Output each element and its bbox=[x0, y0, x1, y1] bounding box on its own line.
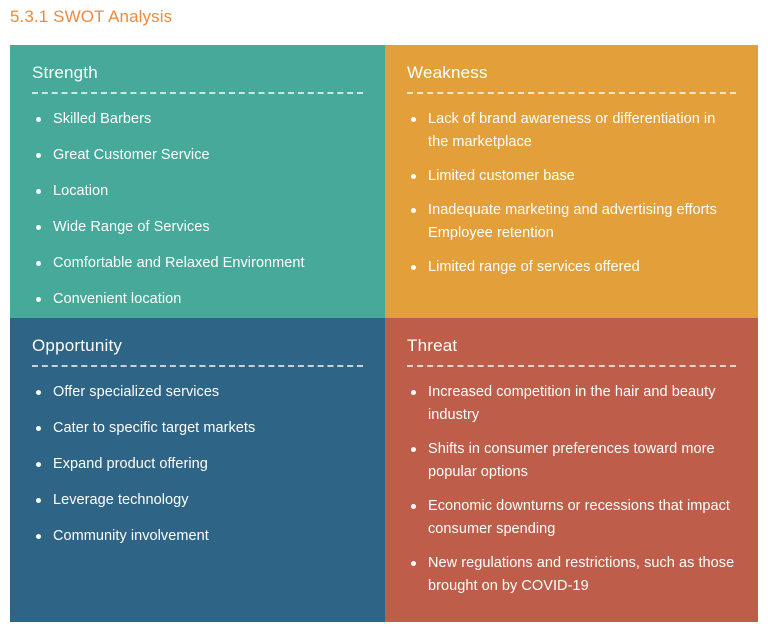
list-item-text: Lack of brand awareness or differentiati… bbox=[428, 111, 715, 150]
bullet-icon bbox=[411, 117, 416, 122]
swot-analysis-page: 5.3.1 SWOT Analysis Strength Skilled Bar… bbox=[0, 0, 768, 636]
bullet-icon bbox=[36, 426, 41, 431]
list-item: Limited customer base bbox=[407, 165, 736, 188]
swot-grid: Strength Skilled Barbers Great Customer … bbox=[10, 45, 758, 622]
swot-list-opportunity: Offer specialized services Cater to spec… bbox=[32, 381, 363, 548]
heading-divider-strength bbox=[32, 92, 363, 94]
list-item-text: Limited customer base bbox=[428, 168, 575, 184]
swot-quadrant-weakness: Weakness Lack of brand awareness or diff… bbox=[385, 45, 758, 318]
swot-quadrant-strength: Strength Skilled Barbers Great Customer … bbox=[10, 45, 385, 318]
list-item: Expand product offering bbox=[32, 453, 363, 476]
list-item: Comfortable and Relaxed Environment bbox=[32, 252, 363, 275]
bullet-icon bbox=[36, 498, 41, 503]
list-item: Location bbox=[32, 180, 363, 203]
bullet-icon bbox=[36, 297, 41, 302]
list-item-text: Expand product offering bbox=[53, 456, 208, 472]
list-item: Leverage technology bbox=[32, 489, 363, 512]
bullet-icon bbox=[36, 462, 41, 467]
list-item: Great Customer Service bbox=[32, 144, 363, 167]
list-item: Increased competition in the hair and be… bbox=[407, 381, 736, 427]
list-item-text: Increased competition in the hair and be… bbox=[428, 384, 716, 423]
bullet-icon bbox=[411, 208, 416, 213]
list-item: Community involvement bbox=[32, 525, 363, 548]
list-item: Cater to specific target markets bbox=[32, 417, 363, 440]
list-item: Offer specialized services bbox=[32, 381, 363, 404]
list-item: Limited range of services offered bbox=[407, 256, 736, 279]
list-item: Skilled Barbers bbox=[32, 108, 363, 131]
bullet-icon bbox=[411, 447, 416, 452]
heading-divider-opportunity bbox=[32, 365, 363, 367]
list-item-text: Great Customer Service bbox=[53, 147, 210, 163]
list-item-text: Community involvement bbox=[53, 528, 209, 544]
bullet-icon bbox=[36, 189, 41, 194]
heading-divider-threat bbox=[407, 365, 736, 367]
page-title: 5.3.1 SWOT Analysis bbox=[10, 5, 172, 29]
list-item-text: Convenient location bbox=[53, 291, 181, 307]
list-item: Convenient location bbox=[32, 288, 363, 311]
swot-quadrant-opportunity: Opportunity Offer specialized services C… bbox=[10, 318, 385, 622]
swot-list-weakness: Lack of brand awareness or differentiati… bbox=[407, 108, 736, 279]
list-item: Lack of brand awareness or differentiati… bbox=[407, 108, 736, 154]
quadrant-heading-threat: Threat bbox=[407, 334, 736, 358]
bullet-icon bbox=[36, 390, 41, 395]
bullet-icon bbox=[36, 534, 41, 539]
swot-quadrant-threat: Threat Increased competition in the hair… bbox=[385, 318, 758, 622]
bullet-icon bbox=[36, 117, 41, 122]
list-item-text: Leverage technology bbox=[53, 492, 189, 508]
bullet-icon bbox=[36, 261, 41, 266]
bullet-icon bbox=[411, 504, 416, 509]
list-item-text: Economic downturns or recessions that im… bbox=[428, 498, 730, 537]
quadrant-heading-weakness: Weakness bbox=[407, 61, 736, 85]
bullet-icon bbox=[411, 174, 416, 179]
heading-divider-weakness bbox=[407, 92, 736, 94]
list-item-text: Comfortable and Relaxed Environment bbox=[53, 255, 305, 271]
list-item: Inadequate marketing and advertising eff… bbox=[407, 199, 736, 245]
list-item-text: Wide Range of Services bbox=[53, 219, 210, 235]
quadrant-heading-strength: Strength bbox=[32, 61, 363, 85]
swot-list-threat: Increased competition in the hair and be… bbox=[407, 381, 736, 598]
list-item: Shifts in consumer preferences toward mo… bbox=[407, 438, 736, 484]
bullet-icon bbox=[411, 390, 416, 395]
list-item: Economic downturns or recessions that im… bbox=[407, 495, 736, 541]
bullet-icon bbox=[411, 561, 416, 566]
bullet-icon bbox=[411, 265, 416, 270]
list-item-text: Location bbox=[53, 183, 108, 199]
quadrant-heading-opportunity: Opportunity bbox=[32, 334, 363, 358]
bullet-icon bbox=[36, 225, 41, 230]
list-item: New regulations and restrictions, such a… bbox=[407, 552, 736, 598]
list-item-text: New regulations and restrictions, such a… bbox=[428, 555, 734, 594]
list-item-text: Offer specialized services bbox=[53, 384, 219, 400]
list-item-text: Shifts in consumer preferences toward mo… bbox=[428, 441, 715, 480]
list-item-text: Cater to specific target markets bbox=[53, 420, 255, 436]
swot-list-strength: Skilled Barbers Great Customer Service L… bbox=[32, 108, 363, 311]
list-item-text: Skilled Barbers bbox=[53, 111, 151, 127]
list-item-text: Inadequate marketing and advertising eff… bbox=[428, 202, 717, 241]
bullet-icon bbox=[36, 153, 41, 158]
list-item-text: Limited range of services offered bbox=[428, 259, 640, 275]
list-item: Wide Range of Services bbox=[32, 216, 363, 239]
